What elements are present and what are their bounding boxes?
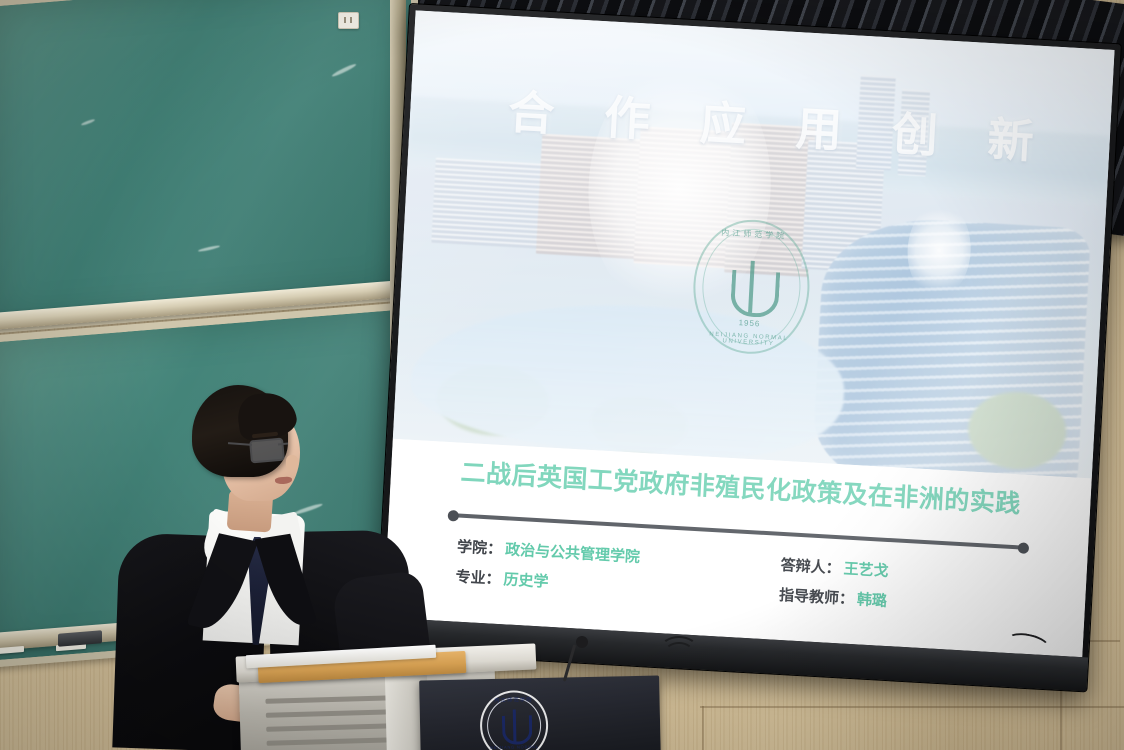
- meta-row-college: 学院： 政治与公共管理学院: [457, 535, 738, 572]
- wall-seam-3: [700, 706, 1124, 708]
- glasses-lens: [249, 438, 285, 464]
- meta-value-college: 政治与公共管理学院: [505, 538, 641, 567]
- chalk-smudge-3: [81, 118, 95, 126]
- wall-display[interactable]: 合 作 应 用 创 新 内江师范学院 1956 NEIJIANG NORMAL …: [376, 4, 1121, 691]
- photo-tower-1: [856, 74, 896, 170]
- photo-tower-2: [898, 89, 931, 176]
- microphone-stem: [563, 644, 576, 681]
- meta-label-major: 专业：: [455, 565, 501, 589]
- lectern-front-panel: 内江师范学院 NEIJIANG NORMAL UNIVERSITY: [419, 675, 661, 750]
- photo-building-2: [536, 133, 647, 259]
- meta-label-presenter: 答辩人：: [780, 554, 841, 578]
- chalk-smudge-2: [198, 245, 220, 253]
- meta-row-advisor: 指导教师： 韩璐: [735, 581, 1016, 618]
- meta-label-advisor: 指导教师：: [779, 584, 855, 609]
- podium-seal-glyph: [500, 709, 529, 742]
- meta-value-advisor: 韩璐: [856, 588, 887, 611]
- meta-row-presenter: 答辩人： 王艺戈: [736, 551, 1017, 588]
- nose: [286, 455, 299, 470]
- slide-meta-grid: 学院： 政治与公共管理学院 答辩人： 王艺戈 专业： 历史学 指导教师： 韩璐: [455, 535, 1017, 618]
- chalk-smudge-1: [331, 63, 357, 78]
- slide-campus-photo: 合 作 应 用 创 新 内江师范学院 1956 NEIJIANG NORMAL …: [393, 10, 1115, 478]
- lectern: 内江师范学院 NEIJIANG NORMAL UNIVERSITY: [236, 650, 706, 750]
- meta-label-college: 学院：: [457, 535, 503, 559]
- podium-university-seal: 内江师范学院 NEIJIANG NORMAL UNIVERSITY: [479, 690, 548, 750]
- podium-seal-text-bottom: NEIJIANG NORMAL UNIVERSITY: [482, 744, 546, 750]
- classroom-photo-scene: 合 作 应 用 创 新 内江师范学院 1956 NEIJIANG NORMAL …: [0, 0, 1124, 750]
- meta-value-presenter: 王艺戈: [843, 557, 889, 581]
- photo-building-1: [431, 157, 547, 249]
- meta-row-major: 专业： 历史学: [455, 565, 736, 602]
- blackboard-sheen-upper: [0, 0, 411, 326]
- microphone-head: [576, 636, 588, 648]
- podium-seal-text-top: 内江师范学院: [481, 696, 545, 704]
- seal-gate-glyph: [727, 260, 776, 315]
- display-screen[interactable]: 合 作 应 用 创 新 内江师范学院 1956 NEIJIANG NORMAL …: [383, 10, 1114, 657]
- meta-value-major: 历史学: [503, 568, 549, 592]
- wall-outlet: [338, 12, 359, 29]
